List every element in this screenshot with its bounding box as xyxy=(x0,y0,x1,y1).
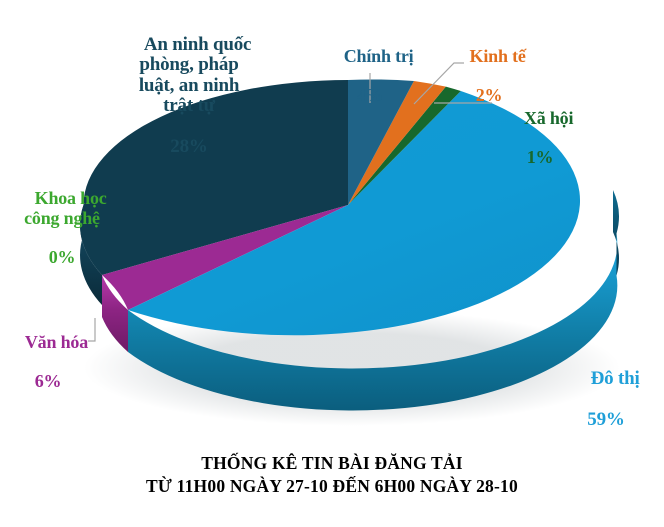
pie-label-xa-hoi-name: Xã hội xyxy=(524,108,573,128)
chart-caption-line-1: THỐNG KÊ TIN BÀI ĐĂNG TẢI xyxy=(0,452,664,475)
pie-label-an-ninh-quoc-phong-pct: 28% xyxy=(96,137,282,158)
pie-label-kinh-te-name: Kinh tế xyxy=(470,46,526,66)
chart-caption: THỐNG KÊ TIN BÀI ĐĂNG TẢI TỪ 11H00 NGÀY … xyxy=(0,452,664,498)
pie-chart-figure: An ninh quốc phòng, pháp luật, an ninh t… xyxy=(0,0,664,527)
pie-label-chinh-tri-name: Chính trị xyxy=(344,46,414,66)
pie-label-chinh-tri-pct: 4% xyxy=(318,86,422,105)
pie-label-do-thi-name: Đô thị xyxy=(591,368,640,389)
pie-label-an-ninh-quoc-phong-name: An ninh quốc phòng, pháp luật, an ninh t… xyxy=(139,34,251,117)
pie-label-van-hoa-pct: 6% xyxy=(0,372,96,391)
pie-label-van-hoa: Văn hóa 6% xyxy=(0,314,96,431)
pie-label-khoa-hoc-cong-nghe: Khoa học công nghệ 0% xyxy=(2,170,122,306)
chart-caption-line-2: TỪ 11H00 NGÀY 27-10 ĐẾN 6H00 NGÀY 28-10 xyxy=(0,475,664,498)
pie-label-khoa-hoc-cong-nghe-name: Khoa học công nghệ xyxy=(24,188,106,227)
pie-label-xa-hoi: Xã hội 1% xyxy=(488,90,592,207)
pie-label-van-hoa-name: Văn hóa xyxy=(25,332,88,352)
pie-label-an-ninh-quoc-phong: An ninh quốc phòng, pháp luật, an ninh t… xyxy=(96,14,282,199)
pie-label-do-thi-pct: 59% xyxy=(556,410,656,431)
pie-label-khoa-hoc-cong-nghe-pct: 0% xyxy=(2,248,122,267)
pie-label-chinh-tri: Chính trị 4% xyxy=(318,28,422,145)
pie-label-xa-hoi-pct: 1% xyxy=(488,148,592,167)
